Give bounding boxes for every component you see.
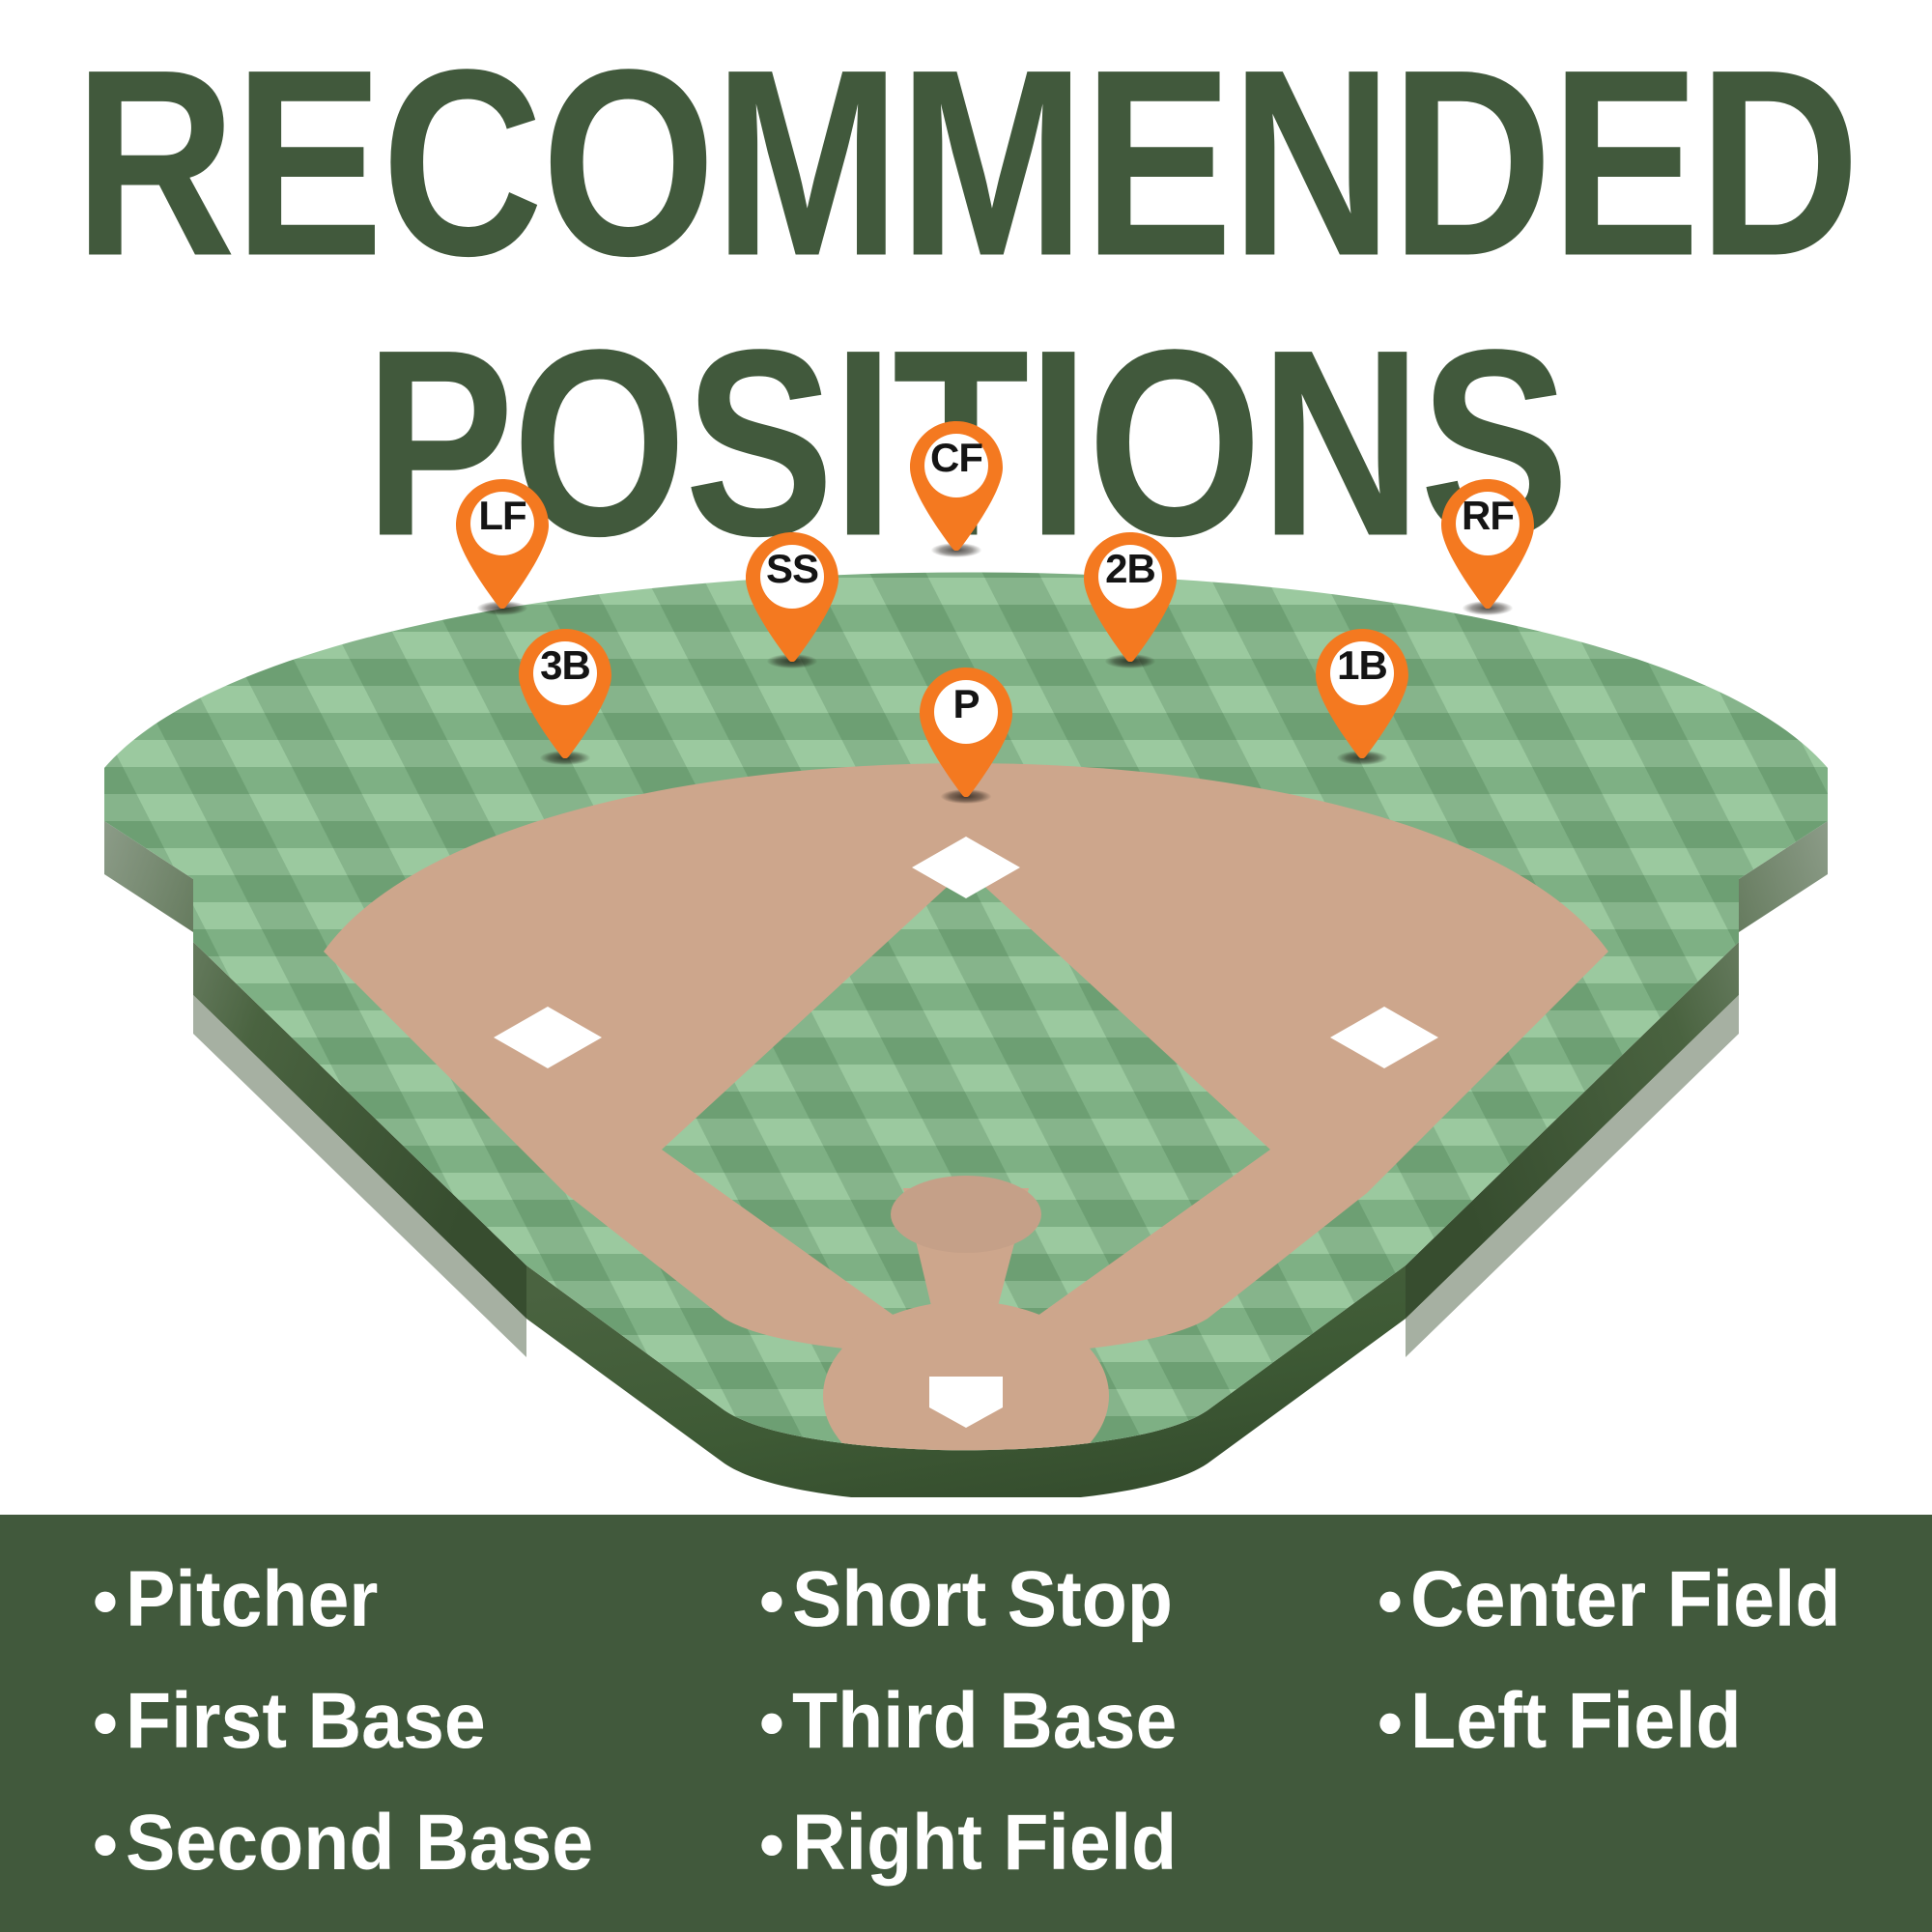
legend-item: •Short Stop xyxy=(759,1540,1378,1662)
bullet-icon: • xyxy=(93,1542,126,1662)
map-pin-icon xyxy=(1441,479,1534,609)
legend-item: •Center Field xyxy=(1378,1540,1932,1662)
position-marker-right-field[interactable]: RF xyxy=(1441,479,1534,609)
legend-item: •Pitcher xyxy=(93,1540,759,1662)
legend-column-3: •Center Field•Left Field xyxy=(1378,1540,1932,1783)
bullet-icon: • xyxy=(759,1663,792,1783)
legend-item-label: Left Field xyxy=(1410,1662,1742,1781)
legend-item: •Third Base xyxy=(759,1662,1378,1783)
bullet-icon: • xyxy=(93,1663,126,1783)
position-markers-layer: CFLFRFSS2B3B1BP xyxy=(0,415,1932,1497)
legend-item: •Right Field xyxy=(759,1783,1378,1905)
map-pin-icon xyxy=(1084,532,1177,662)
bullet-icon: • xyxy=(759,1542,792,1662)
legend-item: •Left Field xyxy=(1378,1662,1932,1783)
map-pin-icon xyxy=(746,532,838,662)
legend-item-label: Right Field xyxy=(792,1783,1177,1903)
legend-item-label: Short Stop xyxy=(792,1540,1173,1660)
title-line-1: RECOMMENDED xyxy=(0,41,1932,285)
legend-item: •Second Base xyxy=(93,1783,759,1905)
map-pin-icon xyxy=(920,668,1012,797)
position-marker-first-base[interactable]: 1B xyxy=(1316,629,1408,758)
position-marker-pitcher[interactable]: P xyxy=(920,668,1012,797)
legend-item-label: Third Base xyxy=(792,1662,1177,1781)
positions-legend: •Pitcher•First Base•Second Base•Short St… xyxy=(0,1515,1932,1932)
legend-item: •First Base xyxy=(93,1662,759,1783)
legend-item-label: Second Base xyxy=(126,1783,593,1903)
legend-item-label: Center Field xyxy=(1410,1540,1840,1660)
legend-column-1: •Pitcher•First Base•Second Base xyxy=(93,1540,759,1905)
position-marker-short-stop[interactable]: SS xyxy=(746,532,838,662)
legend-item-label: First Base xyxy=(126,1662,486,1781)
bullet-icon: • xyxy=(1378,1663,1410,1783)
position-marker-center-field[interactable]: CF xyxy=(910,421,1003,551)
map-pin-icon xyxy=(456,479,549,609)
baseball-field-illustration: CFLFRFSS2B3B1BP xyxy=(0,415,1932,1497)
map-pin-icon xyxy=(910,421,1003,551)
position-marker-left-field[interactable]: LF xyxy=(456,479,549,609)
legend-columns: •Pitcher•First Base•Second Base•Short St… xyxy=(93,1540,1874,1922)
position-marker-second-base[interactable]: 2B xyxy=(1084,532,1177,662)
bullet-icon: • xyxy=(93,1785,126,1905)
position-marker-third-base[interactable]: 3B xyxy=(519,629,611,758)
legend-item-label: Pitcher xyxy=(126,1540,378,1660)
map-pin-icon xyxy=(1316,629,1408,758)
legend-column-2: •Short Stop•Third Base•Right Field xyxy=(759,1540,1378,1905)
bullet-icon: • xyxy=(1378,1542,1410,1662)
bullet-icon: • xyxy=(759,1785,792,1905)
poster-root: RECOMMENDED POSITIONS xyxy=(0,0,1932,1932)
map-pin-icon xyxy=(519,629,611,758)
